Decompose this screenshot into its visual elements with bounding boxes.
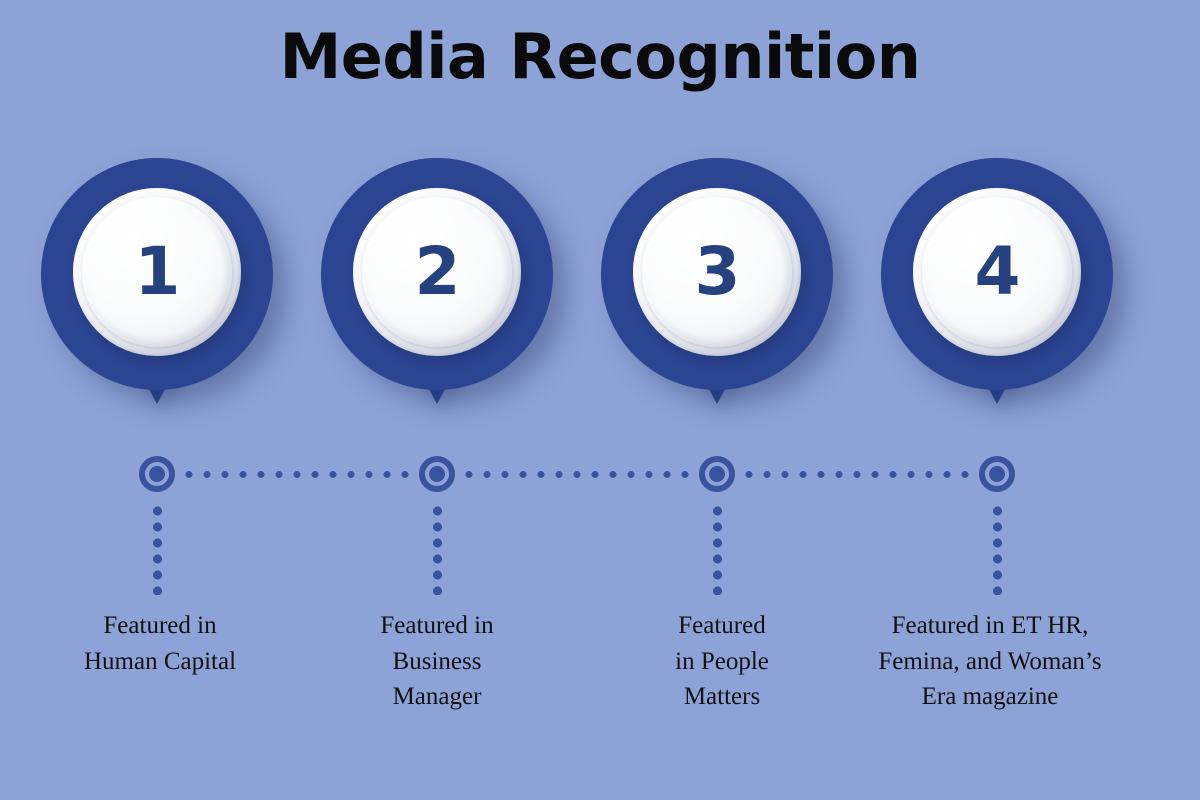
step-number-3: 3 <box>695 239 740 305</box>
timeline-node-4[interactable] <box>979 456 1015 492</box>
pin-ring-3: 3 <box>633 188 801 356</box>
timeline-node-3[interactable] <box>699 456 735 492</box>
timeline-connector-2-3 <box>460 471 694 478</box>
timeline-node-1[interactable] <box>139 456 175 492</box>
step-pin-4[interactable]: 4 <box>881 158 1113 390</box>
step-caption-3-line-2: in People <box>592 644 852 680</box>
timeline-node-core-4 <box>989 466 1005 482</box>
pin-face-4: 4 <box>922 197 1072 347</box>
step-number-1: 1 <box>135 239 180 305</box>
timeline-dropline-1 <box>153 503 162 595</box>
step-caption-4-line-3: Era magazine <box>840 679 1140 715</box>
step-number-4: 4 <box>975 239 1020 305</box>
step-pin-1[interactable]: 1 <box>41 158 273 390</box>
step-caption-4-line-2: Femina, and Woman’s <box>840 644 1140 680</box>
step-pin-3[interactable]: 3 <box>601 158 833 390</box>
timeline-node-core-3 <box>709 466 725 482</box>
step-caption-3: Featured in People Matters <box>592 608 852 715</box>
step-number-2: 2 <box>415 239 460 305</box>
step-caption-3-line-3: Matters <box>592 679 852 715</box>
timeline-dropline-2 <box>433 503 442 595</box>
pin-body-4: 4 <box>881 158 1113 390</box>
timeline-node-core-1 <box>149 466 165 482</box>
timeline-node-2[interactable] <box>419 456 455 492</box>
step-caption-1-line-1: Featured in <box>30 608 290 644</box>
pin-face-1: 1 <box>82 197 232 347</box>
step-caption-2-line-1: Featured in <box>307 608 567 644</box>
timeline-dropline-3 <box>713 503 722 595</box>
step-caption-3-line-1: Featured <box>592 608 852 644</box>
timeline-connector-3-4 <box>740 471 974 478</box>
step-caption-2-line-3: Manager <box>307 679 567 715</box>
timeline-connector-1-2 <box>180 471 414 478</box>
media-recognition-infographic: Media Recognition 1 2 3 <box>0 0 1200 800</box>
pin-ring-2: 2 <box>353 188 521 356</box>
pin-ring-1: 1 <box>73 188 241 356</box>
step-caption-4-line-1: Featured in ET HR, <box>840 608 1140 644</box>
step-caption-4: Featured in ET HR, Femina, and Woman’s E… <box>840 608 1140 715</box>
step-pin-2[interactable]: 2 <box>321 158 553 390</box>
step-caption-1: Featured in Human Capital <box>30 608 290 679</box>
pin-face-3: 3 <box>642 197 792 347</box>
step-caption-2-line-2: Business <box>307 644 567 680</box>
step-caption-1-line-2: Human Capital <box>30 644 290 680</box>
timeline-node-core-2 <box>429 466 445 482</box>
pin-body-3: 3 <box>601 158 833 390</box>
pin-body-1: 1 <box>41 158 273 390</box>
page-title: Media Recognition <box>0 24 1200 89</box>
step-caption-2: Featured in Business Manager <box>307 608 567 715</box>
pin-body-2: 2 <box>321 158 553 390</box>
pin-face-2: 2 <box>362 197 512 347</box>
pin-ring-4: 4 <box>913 188 1081 356</box>
timeline-dropline-4 <box>993 503 1002 595</box>
